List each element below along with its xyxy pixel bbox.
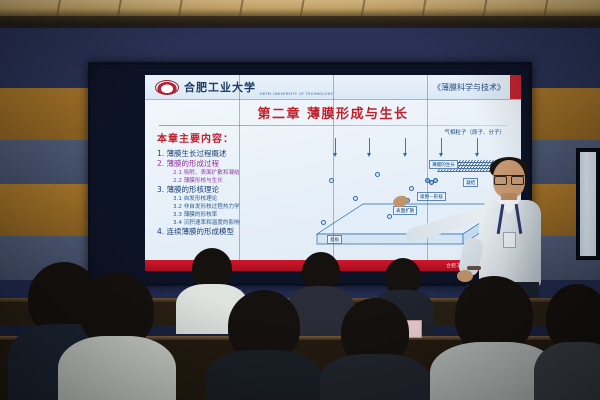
panel-seam [239, 75, 240, 260]
audience-member-front [320, 298, 430, 400]
toc-item: 2.2 薄膜形核与生长 [157, 177, 313, 185]
lecture-hall-photo: 合肥工业大学 HEFEI UNIVERSITY OF TECHNOLOGY 《薄… [0, 0, 600, 400]
course-title: 《薄膜科学与技术》 [433, 82, 505, 93]
toc-item: 3. 薄膜的形核理论 [157, 185, 313, 195]
audience-member-front [206, 290, 322, 400]
adatom [409, 186, 414, 191]
toc-item: 3.4 沉积速率和温度的影响 [157, 219, 313, 227]
toc-item: 3.3 薄膜的形核率 [157, 211, 313, 219]
audience-body [58, 336, 176, 400]
adatom [375, 172, 380, 177]
diagram-label: 表面扩散 [393, 206, 417, 215]
panel-seam [333, 75, 334, 260]
wristwatch [467, 266, 481, 270]
toc-item: 2.1 吸附、表面扩散和凝结 [157, 169, 313, 177]
secondary-display-screen [580, 152, 596, 256]
header-red-tab [510, 75, 521, 99]
audience-body [320, 354, 430, 400]
university-name-en: HEFEI UNIVERSITY OF TECHNOLOGY [260, 92, 333, 96]
audience-member-front [58, 272, 176, 400]
hefei-university-logo-icon [155, 80, 179, 95]
toc-item: 2. 薄膜的形成过程 [157, 159, 313, 169]
toc-item: 3.1 自发形核理论 [157, 195, 313, 203]
audience-body [206, 350, 322, 400]
diagram-label: 薄膜的生长 [429, 160, 458, 169]
nucleus-cluster [433, 178, 438, 183]
audience-member-front [534, 284, 600, 400]
audience-body [534, 342, 600, 400]
diagram-label: 基板 [327, 235, 342, 244]
id-badge [503, 232, 516, 248]
toc-item: 4. 连续薄膜的形成模型 [157, 227, 313, 237]
toc-item: 3.2 非自发形核过程热力学 [157, 203, 313, 211]
adatom [321, 220, 326, 225]
secondary-display[interactable] [576, 148, 600, 260]
adatom [387, 214, 392, 219]
toc-item: 1. 薄膜生长过程概述 [157, 149, 313, 159]
section-title: 本章主要内容： [157, 130, 313, 145]
adatom [353, 196, 358, 201]
glasses-icon [494, 175, 524, 183]
toc-list: 1. 薄膜生长过程概述 2. 薄膜的形成过程 2.1 吸附、表面扩散和凝结 2.… [157, 149, 313, 237]
university-name: 合肥工业大学 [184, 79, 256, 95]
diagram-label: 吸附—形核 [417, 192, 446, 201]
